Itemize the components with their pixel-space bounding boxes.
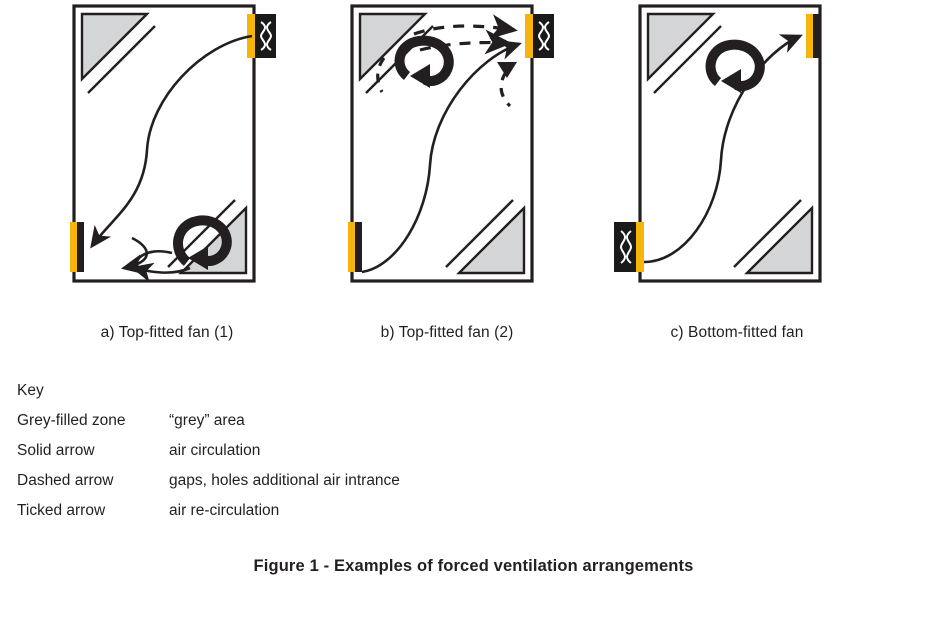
vent-top-right [806,14,820,58]
key-row-dashed-arrow: Dashed arrow gaps, holes additional air … [17,466,657,496]
key-term-grey-filled-zone: Grey-filled zone [17,406,169,436]
panel-c-caption: c) Bottom-fitted fan [592,324,882,342]
key-row-solid-arrow: Solid arrow air circulation [17,436,657,466]
key-definition-grey-filled-zone: “grey” area [169,406,245,436]
key-title: Key [17,378,657,404]
panels-row: a) Top-fitted fan (1) [0,0,947,375]
panel-b-top-fitted-fan-2: b) Top-fitted fan (2) [302,0,592,375]
key-term-dashed-arrow: Dashed arrow [17,466,169,496]
key-definition-dashed-arrow: gaps, holes additional air intrance [169,466,400,496]
panel-a-top-fitted-fan-1: a) Top-fitted fan (1) [22,0,312,375]
figure-caption: Figure 1 - Examples of forced ventilatio… [0,557,947,576]
key-definition-solid-arrow: air circulation [169,436,260,466]
figure-container: a) Top-fitted fan (1) [0,0,947,621]
fan-top-right [525,14,554,58]
vent-bottom-left [348,222,362,272]
key-row-ticked-arrow: Ticked arrow air re-circulation [17,496,657,526]
key-row-grey-filled-zone: Grey-filled zone “grey” area [17,406,657,436]
panel-b-diagram [302,0,592,320]
key-block: Key Grey-filled zone “grey” area Solid a… [17,378,657,526]
panel-a-caption: a) Top-fitted fan (1) [22,324,312,342]
key-term-solid-arrow: Solid arrow [17,436,169,466]
key-term-ticked-arrow: Ticked arrow [17,496,169,526]
panel-a-diagram [22,0,312,320]
vent-bottom-left [70,222,84,272]
key-definition-ticked-arrow: air re-circulation [169,496,279,526]
panel-c-diagram [592,0,882,320]
fan-bottom-left [614,222,644,272]
panel-b-caption: b) Top-fitted fan (2) [302,324,592,342]
panel-c-bottom-fitted-fan: c) Bottom-fitted fan [592,0,882,375]
